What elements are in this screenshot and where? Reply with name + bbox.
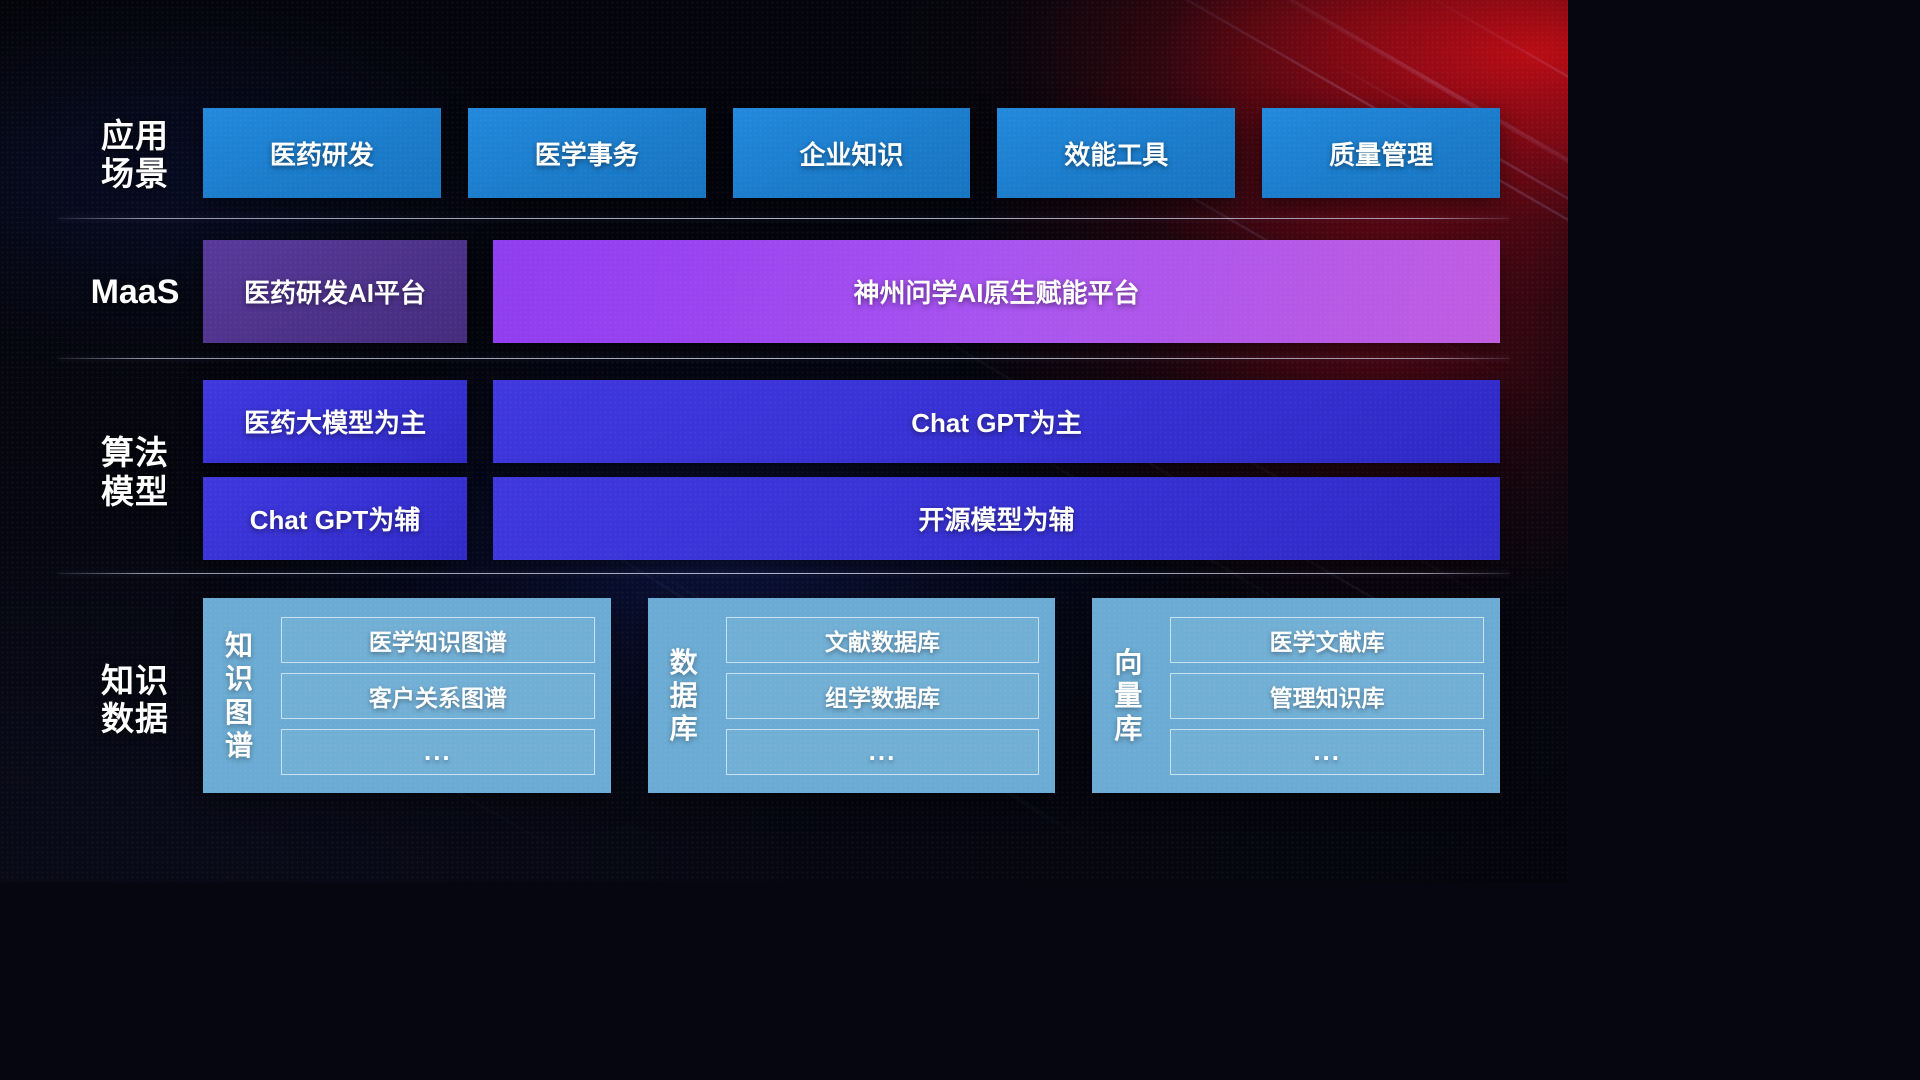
- knowledge-panel-title-2: 数据库: [648, 598, 720, 793]
- application-card-label: 质量管理: [1329, 135, 1433, 172]
- row-label-knowledge-line-1: 知识: [101, 662, 169, 700]
- algorithm-left-card-label: Chat GPT为辅: [250, 500, 420, 537]
- knowledge-panel-title-char: 量: [1114, 679, 1142, 712]
- row-label-algorithm-line-2: 模型: [101, 473, 169, 511]
- knowledge-panel-title-char: 向: [1114, 646, 1142, 679]
- application-card-3[interactable]: 企业知识: [733, 108, 971, 198]
- knowledge-panel-title-1: 知识图谱: [203, 598, 275, 793]
- application-card-4[interactable]: 效能工具: [997, 108, 1235, 198]
- row-label-knowledge: 知识数据: [70, 620, 200, 780]
- knowledge-item[interactable]: ...: [281, 729, 595, 775]
- application-card-2[interactable]: 医学事务: [468, 108, 706, 198]
- knowledge-panel-title-char: 库: [1114, 712, 1142, 745]
- maas-left-card[interactable]: 医药研发AI平台: [203, 240, 467, 343]
- algorithm-right-card-label: 开源模型为辅: [918, 500, 1074, 537]
- knowledge-item[interactable]: 组学数据库: [726, 673, 1040, 719]
- knowledge-item[interactable]: 文献数据库: [726, 617, 1040, 663]
- knowledge-item[interactable]: 客户关系图谱: [281, 673, 595, 719]
- divider-application-maas: [58, 218, 1510, 219]
- maas-right-card-label: 神州问学AI原生赋能平台: [853, 273, 1139, 310]
- divider-algorithm-knowledge: [58, 573, 1510, 574]
- knowledge-panel-3: 向量库医学文献库管理知识库...: [1092, 598, 1500, 793]
- application-card-5[interactable]: 质量管理: [1262, 108, 1500, 198]
- divider-maas-algorithm: [58, 358, 1510, 359]
- knowledge-panel-title-char: 据: [670, 679, 698, 712]
- algorithm-right-card-1[interactable]: Chat GPT为主: [493, 380, 1500, 463]
- application-card-label: 医药研发: [270, 135, 374, 172]
- algorithm-right-card-2[interactable]: 开源模型为辅: [493, 477, 1500, 560]
- knowledge-panel-title-char: 谱: [225, 729, 253, 762]
- row-label-maas: MaaS: [70, 245, 200, 340]
- knowledge-panel-2: 数据库文献数据库组学数据库...: [648, 598, 1056, 793]
- algorithm-left-card-label: 医药大模型为主: [244, 403, 426, 440]
- knowledge-panel-title-char: 识: [225, 662, 253, 695]
- row-label-application-line-1: 应用: [101, 117, 169, 155]
- row-label-algorithm: 算法模型: [70, 390, 200, 555]
- application-card-label: 医学事务: [535, 135, 639, 172]
- knowledge-item[interactable]: ...: [726, 729, 1040, 775]
- application-card-1[interactable]: 医药研发: [203, 108, 441, 198]
- knowledge-panel-items-1: 医学知识图谱客户关系图谱...: [275, 598, 611, 793]
- row-label-maas-line-1: MaaS: [91, 273, 180, 312]
- maas-left-card-label: 医药研发AI平台: [244, 273, 426, 310]
- application-card-label: 效能工具: [1064, 135, 1168, 172]
- knowledge-panel-1: 知识图谱医学知识图谱客户关系图谱...: [203, 598, 611, 793]
- maas-right-card[interactable]: 神州问学AI原生赋能平台: [493, 240, 1500, 343]
- row-label-application: 应用场景: [70, 100, 200, 210]
- slide-canvas: 应用场景医药研发医学事务企业知识效能工具质量管理MaaS医药研发AI平台神州问学…: [0, 0, 1568, 882]
- row-label-application-line-2: 场景: [101, 155, 169, 193]
- knowledge-item[interactable]: 医学知识图谱: [281, 617, 595, 663]
- diagram-content: 应用场景医药研发医学事务企业知识效能工具质量管理MaaS医药研发AI平台神州问学…: [0, 0, 1568, 882]
- application-card-label: 企业知识: [799, 135, 903, 172]
- knowledge-panel-title-char: 知: [225, 629, 253, 662]
- knowledge-item[interactable]: 医学文献库: [1170, 617, 1484, 663]
- knowledge-panel-items-3: 医学文献库管理知识库...: [1164, 598, 1500, 793]
- knowledge-item[interactable]: ...: [1170, 729, 1484, 775]
- knowledge-panel-title-char: 图: [225, 696, 253, 729]
- algorithm-right-card-label: Chat GPT为主: [911, 403, 1081, 440]
- algorithm-left-card-1[interactable]: 医药大模型为主: [203, 380, 467, 463]
- knowledge-panel-title-3: 向量库: [1092, 598, 1164, 793]
- algorithm-left-card-2[interactable]: Chat GPT为辅: [203, 477, 467, 560]
- row-label-knowledge-line-2: 数据: [101, 700, 169, 738]
- knowledge-panel-title-char: 数: [670, 646, 698, 679]
- row-label-algorithm-line-1: 算法: [101, 434, 169, 472]
- knowledge-panel-title-char: 库: [670, 712, 698, 745]
- knowledge-panel-items-2: 文献数据库组学数据库...: [720, 598, 1056, 793]
- knowledge-item[interactable]: 管理知识库: [1170, 673, 1484, 719]
